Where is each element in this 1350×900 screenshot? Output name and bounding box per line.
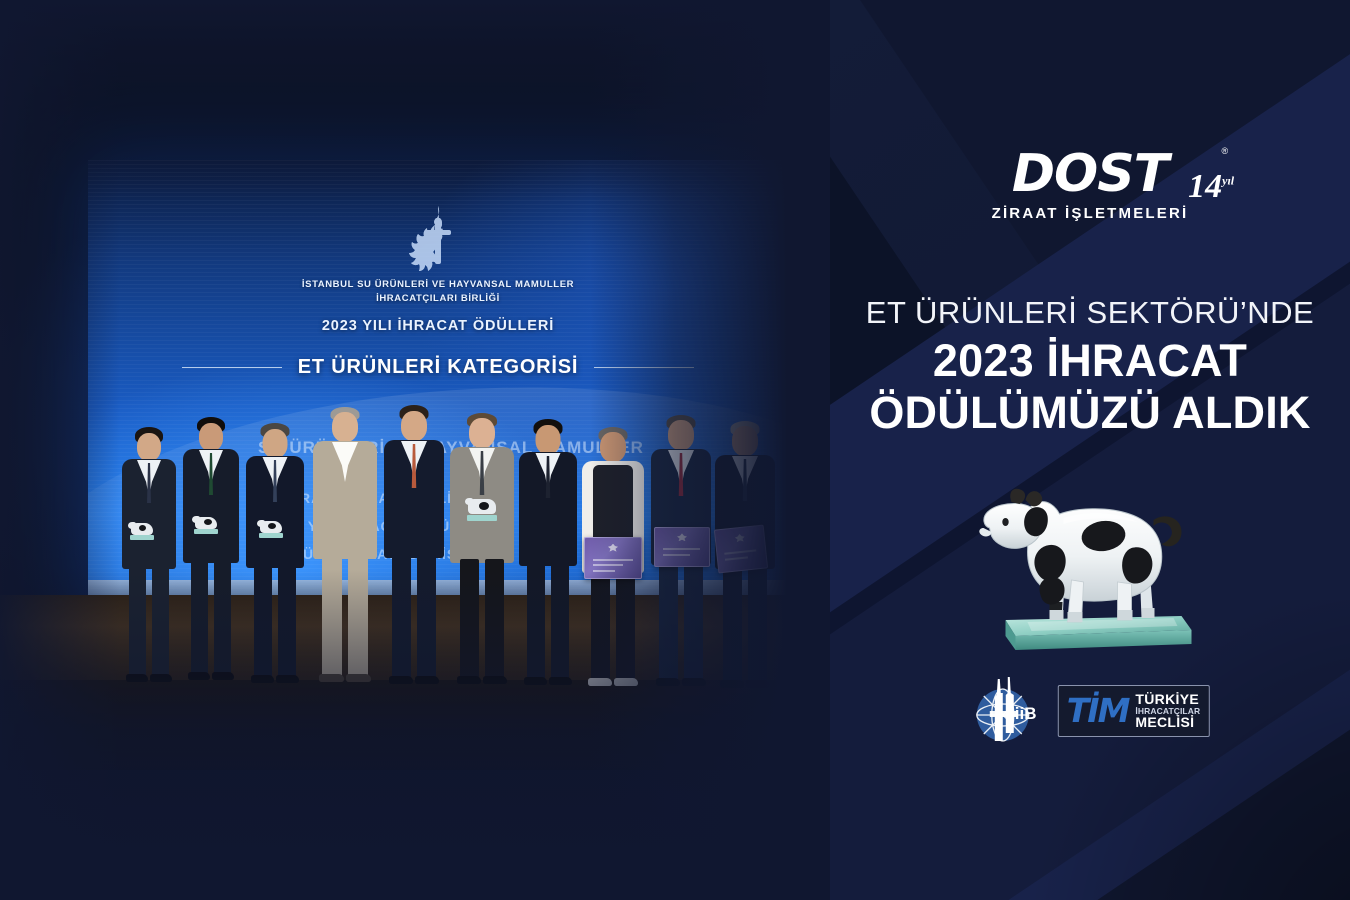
headline-line-2: 2023 İHRACAT bbox=[830, 335, 1350, 387]
cow-trophy-held-3 bbox=[259, 521, 283, 538]
iib-emblem-icon bbox=[390, 202, 486, 278]
iib-mark-text: iiB bbox=[1015, 704, 1037, 723]
headline-line-3: ÖDÜLÜMÜZÜ ALDIK bbox=[830, 387, 1350, 439]
dost-subtitle: ZİRAAT İŞLETMELERİ bbox=[940, 205, 1240, 222]
dost-wordmark: DOST bbox=[1012, 144, 1168, 204]
category-rule-left bbox=[182, 367, 282, 369]
dost-logo: DOST ® 14yıl ZİRAAT İŞLETMELERİ bbox=[940, 148, 1240, 222]
right-content-column: DOST ® 14yıl ZİRAAT İŞLETMELERİ ET ÜRÜNL… bbox=[830, 0, 1350, 900]
tim-line-1: TÜRKİYE bbox=[1135, 692, 1200, 706]
tim-mark-text: TİM bbox=[1067, 695, 1129, 726]
tim-line-3: MECLİSİ bbox=[1135, 715, 1200, 729]
screen-category-label: ET ÜRÜNLERİ KATEGORİSİ bbox=[298, 356, 579, 379]
award-ceremony-photo: İSTANBUL SU ÜRÜNLERİ VE HAYVANSAL MAMULL… bbox=[0, 0, 830, 900]
tim-text-block: TÜRKİYE İHRACATÇILAR MECLİSİ bbox=[1135, 692, 1200, 729]
poster-canvas: İSTANBUL SU ÜRÜNLERİ VE HAYVANSAL MAMULL… bbox=[0, 0, 1350, 900]
trophy-glass-base bbox=[1006, 616, 1192, 650]
registered-trademark-icon: ® bbox=[1222, 146, 1229, 156]
partner-logos-row: iiB TİM TÜRKİYE İHRACATÇILAR MECLİSİ bbox=[970, 673, 1210, 749]
cow-trophy-held-4 bbox=[467, 499, 497, 521]
photo-fade-right bbox=[590, 0, 830, 900]
cow-trophy-illustration bbox=[968, 470, 1213, 660]
headline-block: ET ÜRÜNLERİ SEKTÖRÜ’NDE 2023 İHRACAT ÖDÜ… bbox=[830, 296, 1350, 439]
headline-line-1: ET ÜRÜNLERİ SEKTÖRÜ’NDE bbox=[830, 296, 1350, 331]
dost-anniversary-mark: 14yıl bbox=[1188, 170, 1234, 204]
cow-trophy-held-2 bbox=[194, 517, 218, 534]
iib-logo: iiB bbox=[970, 673, 1042, 749]
iib-globe-icon: iiB bbox=[970, 673, 1042, 749]
cow-trophy-held-1 bbox=[130, 523, 154, 540]
cow-trophy-icon bbox=[968, 470, 1213, 660]
tim-logo: TİM TÜRKİYE İHRACATÇILAR MECLİSİ bbox=[1058, 685, 1210, 736]
